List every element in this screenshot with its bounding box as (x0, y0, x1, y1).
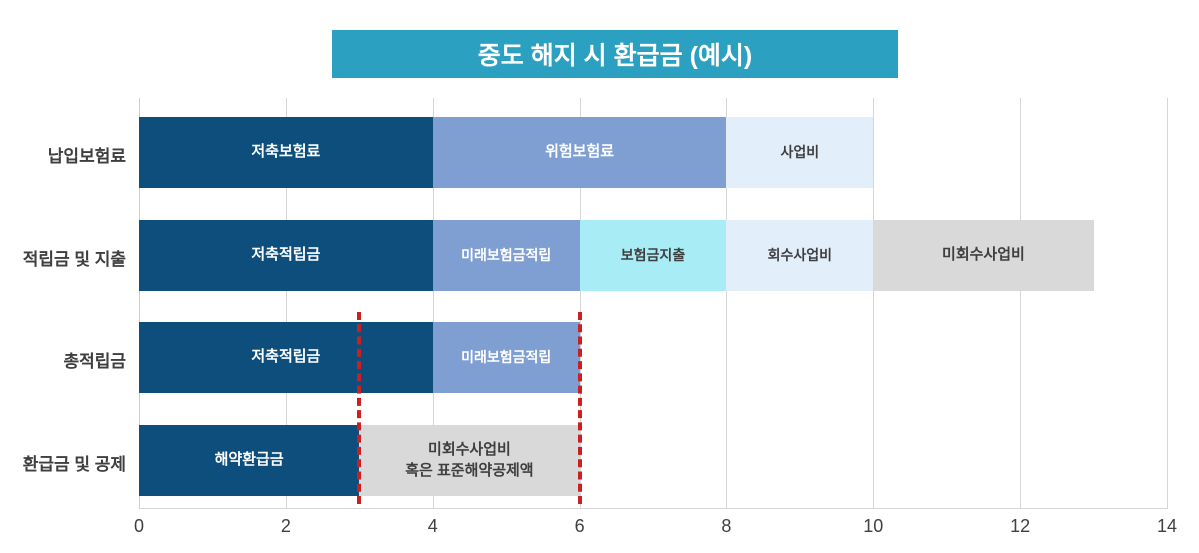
x-tick-4: 4 (413, 516, 453, 537)
bar-segment-label: 저축적립금 (251, 245, 320, 265)
chart-container: 중도 해지 시 환급금 (예시) 저축보험료위험보험료사업비저축적립금미래보험금… (0, 0, 1199, 553)
bar-row: 저축적립금미래보험금적립보험금지출회수사업비미회수사업비 (139, 220, 1167, 291)
category-label-0: 납입보험료 (0, 142, 126, 167)
x-tick-14: 14 (1147, 516, 1187, 537)
bar-segment-label: 미회수사업비 혹은 표준해약공제액 (405, 440, 533, 481)
x-axis-line (139, 508, 1168, 509)
bar-segment-label: 해약환급금 (215, 450, 284, 470)
bar-segment[interactable]: 해약환급금 (139, 425, 359, 496)
marker-line-6 (578, 312, 582, 504)
bar-row: 해약환급금미회수사업비 혹은 표준해약공제액 (139, 425, 1167, 496)
bar-segment[interactable]: 저축보험료 (139, 117, 433, 188)
plot-area: 저축보험료위험보험료사업비저축적립금미래보험금적립보험금지출회수사업비미회수사업… (139, 98, 1167, 508)
bar-segment-label: 보험금지출 (621, 246, 685, 265)
bar-segment[interactable]: 미래보험금적립 (433, 220, 580, 291)
bar-segment-label: 미회수사업비 (942, 245, 1025, 265)
bar-row: 저축적립금미래보험금적립 (139, 322, 1167, 393)
bar-segment[interactable]: 사업비 (726, 117, 873, 188)
x-tick-10: 10 (853, 516, 893, 537)
x-tick-6: 6 (560, 516, 600, 537)
bar-segment-label: 회수사업비 (768, 246, 832, 265)
x-tick-12: 12 (1000, 516, 1040, 537)
bar-segment[interactable]: 미회수사업비 혹은 표준해약공제액 (359, 425, 579, 496)
bar-segment[interactable]: 위험보험료 (433, 117, 727, 188)
x-tick-8: 8 (706, 516, 746, 537)
gridline-14 (1167, 98, 1168, 508)
bar-segment[interactable]: 보험금지출 (580, 220, 727, 291)
bar-segment[interactable]: 저축적립금 (139, 220, 433, 291)
bar-row: 저축보험료위험보험료사업비 (139, 117, 1167, 188)
category-label-2: 총적립금 (0, 347, 126, 372)
chart-title-banner: 중도 해지 시 환급금 (예시) (332, 30, 898, 78)
bar-segment[interactable]: 미회수사업비 (873, 220, 1093, 291)
bar-segment-label: 저축보험료 (251, 142, 320, 162)
bar-segment-label: 미래보험금적립 (461, 246, 551, 265)
bar-segment[interactable]: 회수사업비 (726, 220, 873, 291)
bar-segment-label: 위험보험료 (545, 142, 614, 162)
bar-segment-label: 미래보험금적립 (461, 348, 551, 367)
category-label-3: 환급금 및 공제 (0, 450, 126, 475)
x-tick-0: 0 (119, 516, 159, 537)
bar-segment-label: 사업비 (781, 143, 820, 162)
bar-segment-label: 저축적립금 (251, 347, 320, 367)
page-title: 중도 해지 시 환급금 (예시) (478, 36, 752, 72)
marker-line-3 (357, 312, 361, 504)
bar-segment[interactable]: 미래보험금적립 (433, 322, 580, 393)
x-tick-2: 2 (266, 516, 306, 537)
category-label-1: 적립금 및 지출 (0, 245, 126, 270)
bar-segment[interactable]: 저축적립금 (139, 322, 433, 393)
